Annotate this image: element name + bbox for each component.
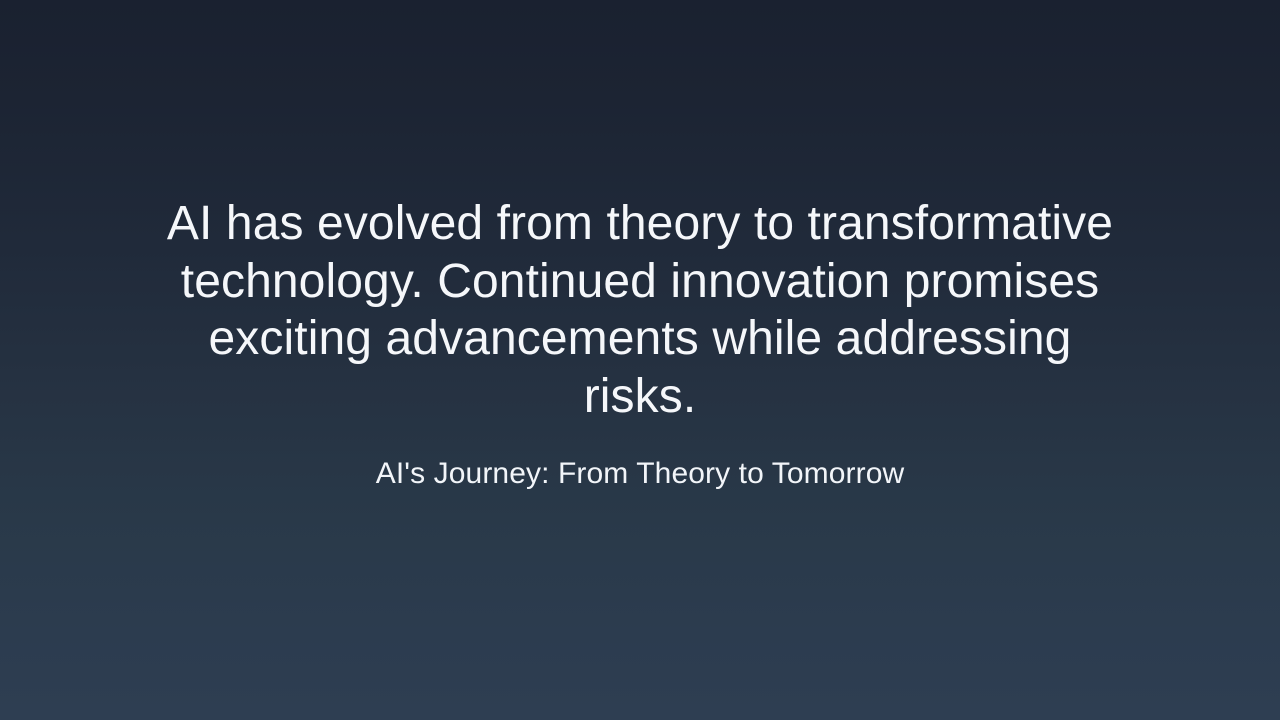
slide-content-block: AI has evolved from theory to transforma…: [160, 195, 1120, 493]
slide-subtitle: AI's Journey: From Theory to Tomorrow: [160, 455, 1120, 493]
presentation-slide: AI has evolved from theory to transforma…: [0, 0, 1280, 720]
conclusion-statement: AI has evolved from theory to transforma…: [160, 195, 1120, 425]
